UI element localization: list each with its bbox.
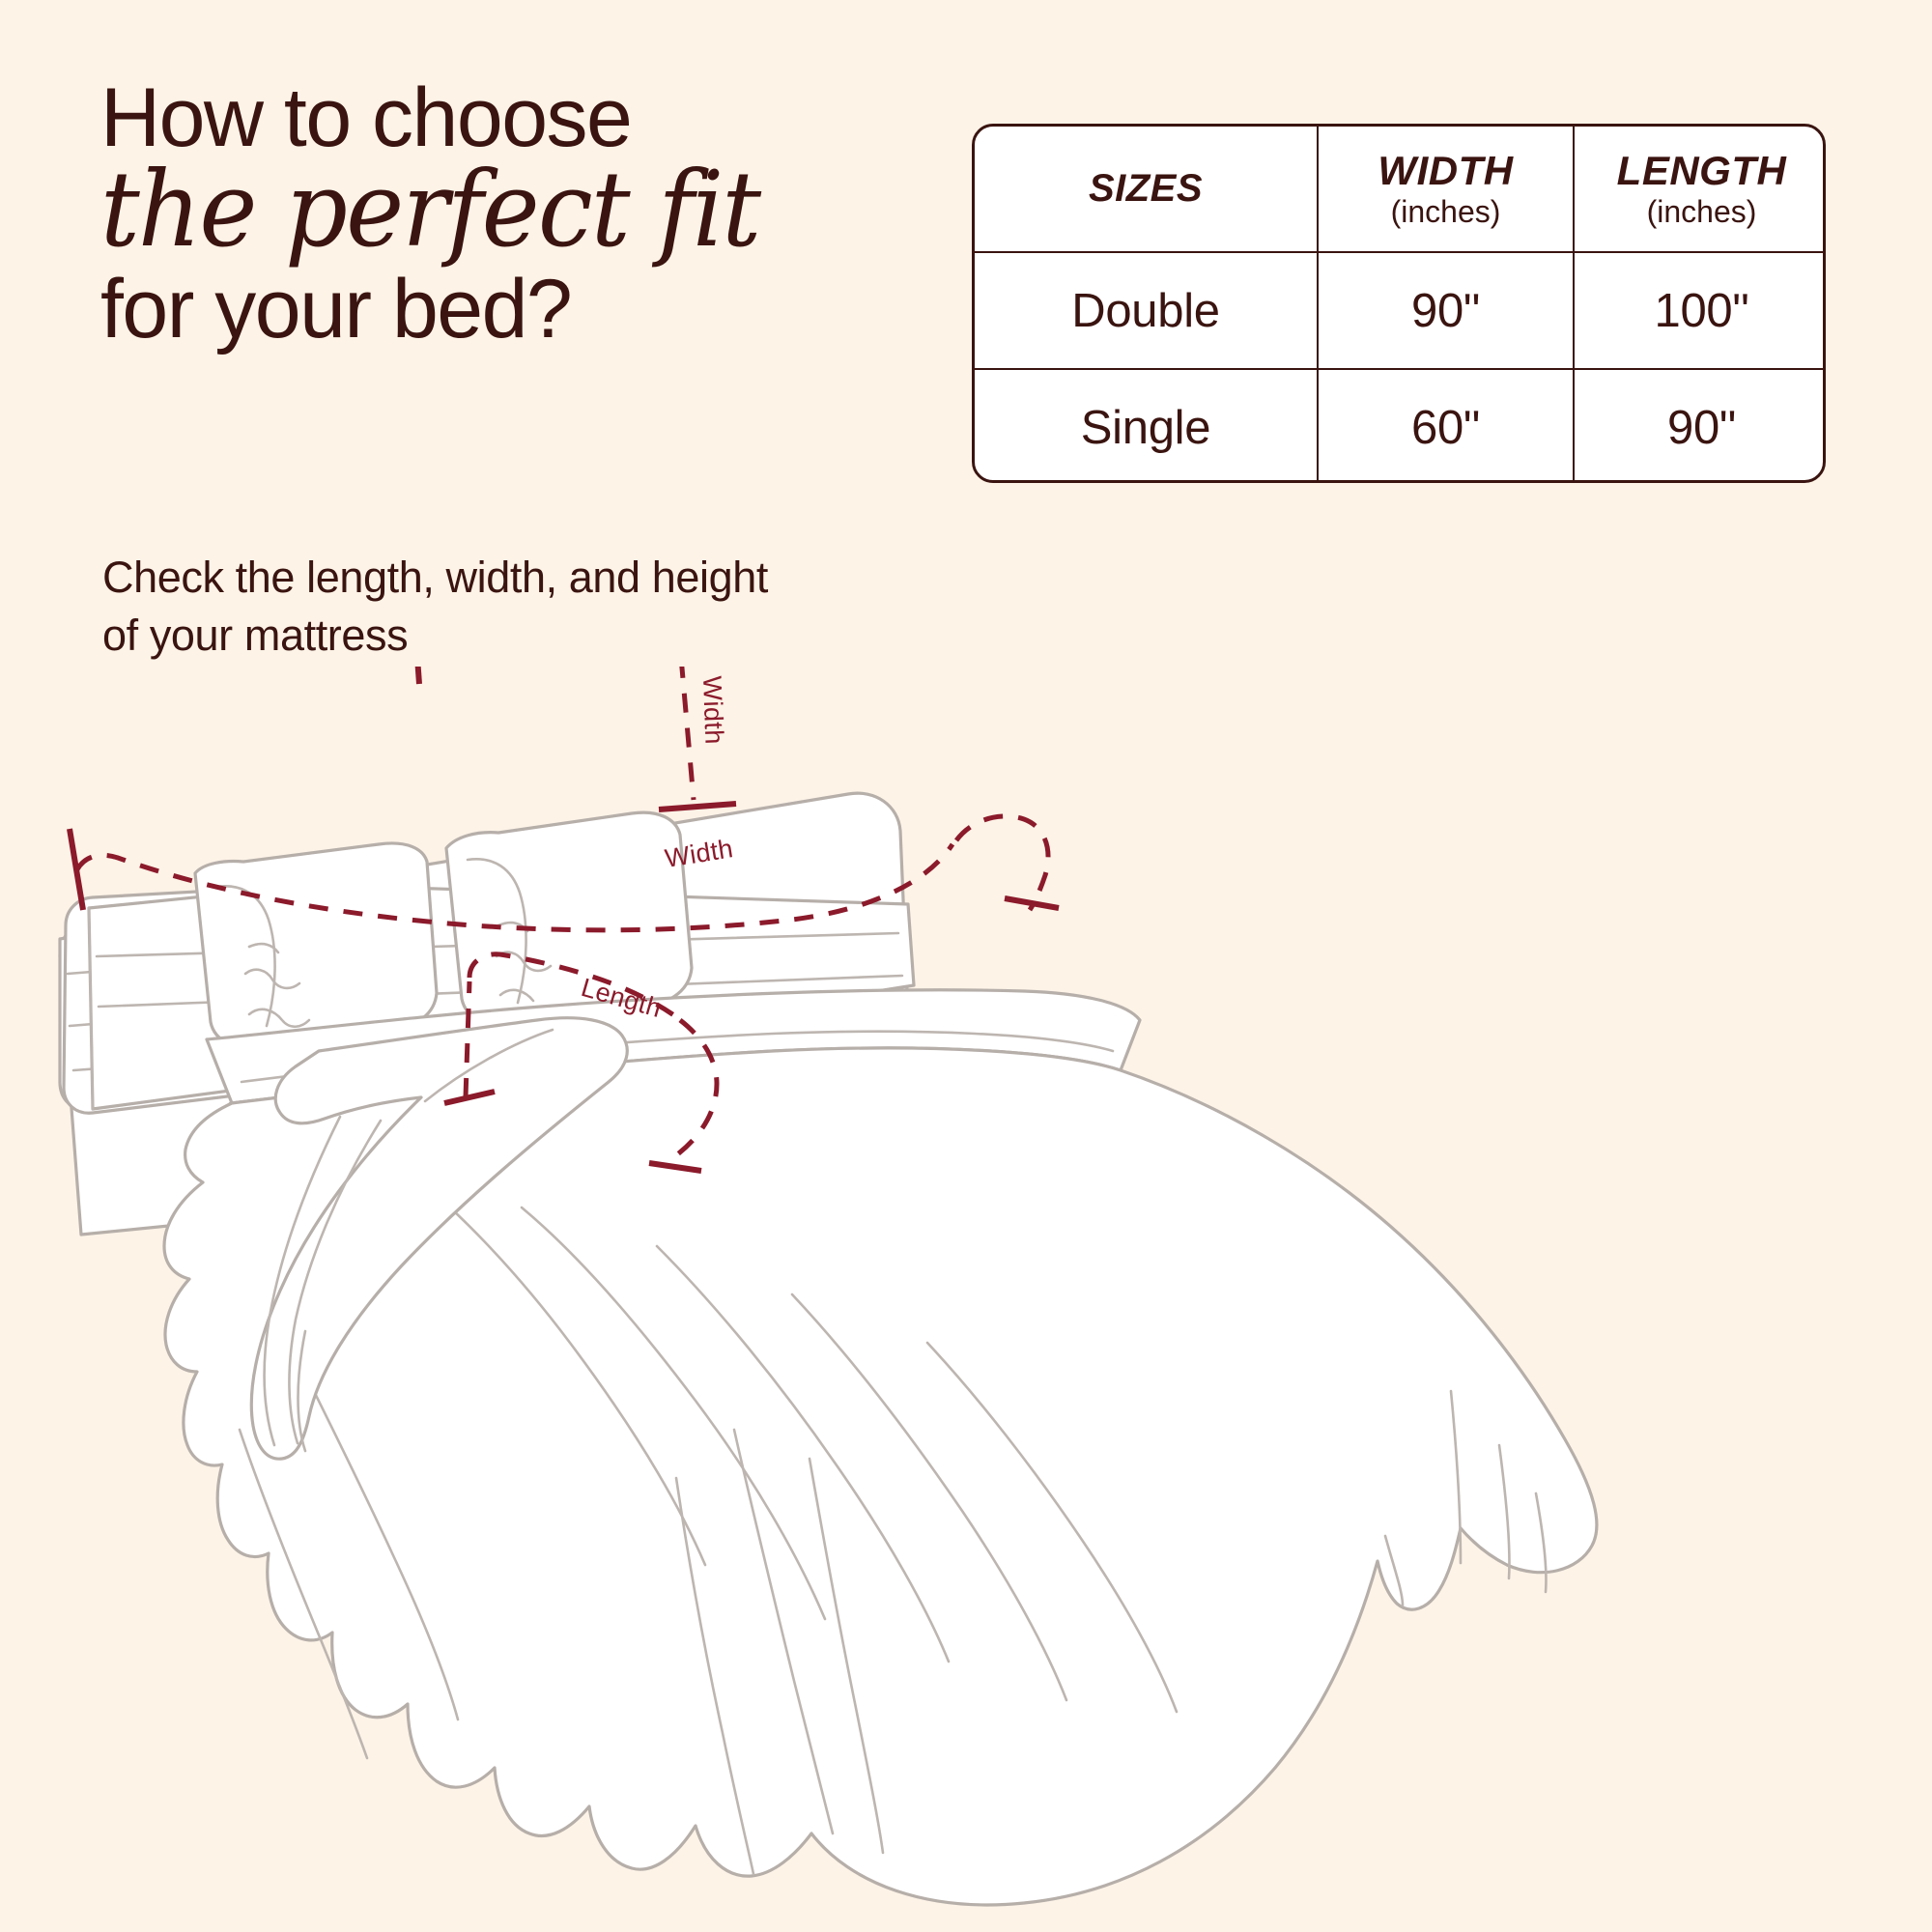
table-cell-width-double: 90" (1318, 252, 1574, 369)
headline-line-2: the perfect fit (100, 157, 864, 264)
table-cell-size-double: Double (975, 252, 1318, 369)
table-row: Double 90" 100" (975, 252, 1826, 369)
table-header-width-unit: (inches) (1319, 195, 1573, 230)
dimension-pillow-width: Width (641, 667, 736, 810)
bed-line-drawing: Length Width Width (0, 667, 1932, 1932)
table-header-sizes: SIZES (975, 127, 1318, 252)
dimension-pillow-length: Length (413, 667, 632, 684)
table-cell-length-single: 90" (1574, 369, 1826, 483)
headline-line-3: for your bed? (100, 267, 912, 353)
table-cell-size-single: Single (975, 369, 1318, 483)
pillow-left (195, 843, 437, 1048)
table-header-width-title: WIDTH (1378, 148, 1513, 193)
table-header-width: WIDTH (inches) (1318, 127, 1574, 252)
table-header-length-unit: (inches) (1575, 195, 1826, 230)
table-header-row: SIZES WIDTH (inches) LENGTH (inches) (975, 127, 1826, 252)
headline-line-1: How to choose (100, 75, 912, 161)
label-pillow-width: Width (697, 675, 728, 745)
table-cell-width-single: 60" (1318, 369, 1574, 483)
table-header-length: LENGTH (inches) (1574, 127, 1826, 252)
size-chart-table: SIZES WIDTH (inches) LENGTH (inches) Dou… (972, 124, 1826, 483)
table-row: Single 60" 90" (975, 369, 1826, 483)
subtitle-text: Check the length, width, and height of y… (102, 549, 779, 666)
table-cell-length-double: 100" (1574, 252, 1826, 369)
table-header-length-title: LENGTH (1617, 148, 1787, 193)
infographic-page: How to choose the perfect fit for your b… (0, 0, 1932, 1932)
page-title: How to choose the perfect fit for your b… (100, 75, 912, 353)
